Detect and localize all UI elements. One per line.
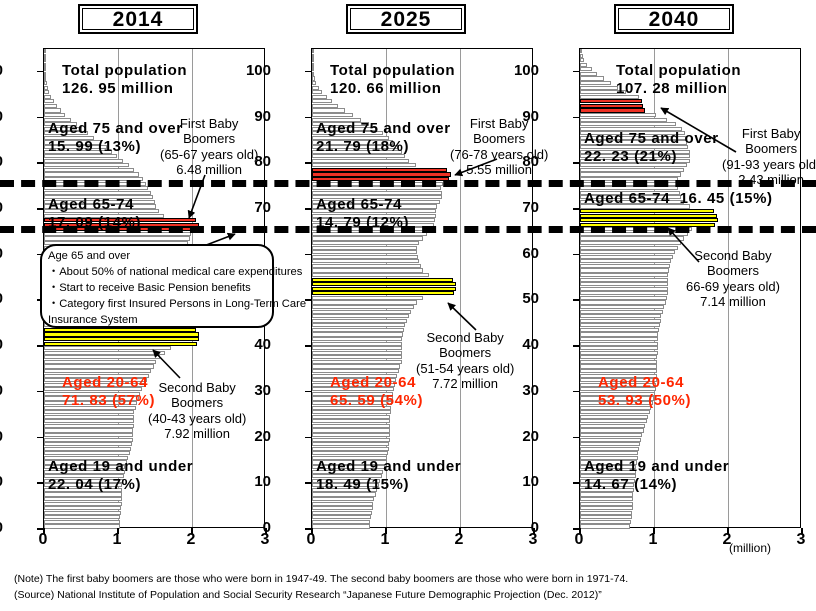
bar-age-79 — [312, 163, 416, 167]
bar-age-34 — [580, 369, 657, 373]
year-label: 2040 — [649, 9, 700, 30]
callout-line-1: ・Start to receive Basic Pension benefits — [48, 281, 266, 297]
fbb-title: First BabyBoomers — [742, 126, 801, 156]
y-tick-80 — [573, 162, 579, 164]
y-tick-label-40: 40 — [237, 337, 271, 352]
bar-age-40 — [312, 342, 402, 346]
bar-age-16 — [312, 451, 388, 455]
y-tick-label-100: 100 — [505, 63, 539, 78]
bar-age-60 — [580, 250, 675, 254]
y-tick-30 — [305, 391, 311, 393]
group-aged-19-under: Aged 19 and under14. 67 (14%) — [584, 458, 729, 493]
bar-age-3 — [44, 511, 121, 515]
bar-age-57 — [312, 264, 421, 268]
sbb-ages: (51-54 years old) — [416, 361, 514, 376]
bar-age-1 — [44, 520, 120, 524]
bar-age-51 — [312, 291, 454, 295]
y-tick-30 — [37, 391, 43, 393]
x-tick-label-0: 0 — [33, 532, 53, 548]
y-tick-90 — [573, 117, 579, 119]
y-tick-label-60: 60 — [0, 246, 3, 261]
y-tick-40 — [37, 345, 43, 347]
bar-age-55 — [312, 273, 429, 277]
bar-age-61 — [580, 246, 678, 250]
bar-age-59 — [580, 255, 673, 259]
bar-age-101 — [580, 63, 587, 67]
bar-age-38 — [312, 351, 402, 355]
bar-age-24 — [580, 415, 648, 419]
y-tick-70 — [305, 208, 311, 210]
footnotes: (Note) The first baby boomers are those … — [14, 572, 628, 604]
sbb-amount: 7.72 million — [432, 376, 498, 391]
bar-age-48 — [580, 305, 664, 309]
sbb-title: Second BabyBoomers — [426, 330, 503, 360]
group-aged-20-64: Aged 20-6471. 83 (57%) — [62, 374, 155, 409]
bar-age-77 — [312, 172, 451, 176]
bar-age-100 — [44, 67, 46, 71]
y-tick-label-100: 100 — [0, 63, 3, 78]
bar-age-23 — [44, 419, 134, 423]
callout-line-2: ・Category first Insured Persons in Long-… — [48, 297, 266, 313]
x-tick-label-1: 1 — [375, 532, 395, 548]
bar-age-90 — [580, 113, 656, 117]
group-label: Aged 65-74 16. 45 (15%) — [584, 190, 773, 207]
bar-age-58 — [580, 259, 671, 263]
bar-age-21 — [312, 428, 390, 432]
total-population-value: 126. 95 million — [62, 80, 174, 97]
bar-age-4 — [44, 506, 121, 510]
bar-age-100 — [580, 67, 592, 71]
bar-age-99 — [44, 72, 46, 76]
fbb-ages: (91-93 years old) — [722, 157, 816, 172]
bar-age-18 — [312, 442, 389, 446]
bar-age-78 — [312, 168, 447, 172]
bar-age-37 — [312, 355, 402, 359]
bar-age-16 — [44, 451, 130, 455]
bar-age-57 — [580, 264, 670, 268]
group-value: 22. 04 (17%) — [48, 476, 141, 493]
bar-age-43 — [580, 328, 659, 332]
group-aged-19-under: Aged 19 and under18. 49 (15%) — [316, 458, 461, 493]
bar-age-51 — [580, 291, 668, 295]
bar-age-5 — [44, 502, 122, 506]
reference-line-age-65 — [0, 226, 816, 233]
bar-age-18 — [44, 442, 132, 446]
second-baby-boomers-annotation: Second BabyBoomers66-69 years old)7.14 m… — [686, 248, 780, 309]
bar-age-34 — [44, 369, 151, 373]
bar-age-22 — [44, 424, 134, 428]
bar-age-2 — [44, 515, 120, 519]
x-tick-label-2: 2 — [449, 532, 469, 548]
bar-age-94 — [44, 95, 51, 99]
group-value: 71. 83 (57%) — [62, 392, 155, 409]
bar-age-60 — [312, 250, 417, 254]
total-population-value: 107. 28 million — [616, 80, 728, 97]
bar-age-44 — [580, 323, 660, 327]
bar-age-63 — [580, 236, 684, 240]
bar-age-49 — [580, 300, 666, 304]
bar-age-3 — [312, 511, 372, 515]
y-tick-label-50: 50 — [505, 291, 539, 306]
group-value: 21. 79 (18%) — [316, 138, 409, 155]
bar-age-1 — [580, 520, 631, 524]
year-title-box: 2040 — [614, 4, 734, 34]
group-value: 15. 99 (13%) — [48, 138, 141, 155]
panel-2014: 201410090807060504030201000123Total popu… — [0, 0, 272, 560]
bar-age-94 — [312, 95, 327, 99]
bar-age-96 — [312, 86, 319, 90]
bar-age-25 — [312, 410, 391, 414]
bar-age-91 — [580, 108, 645, 112]
bar-age-42 — [44, 332, 199, 336]
bar-age-96 — [44, 86, 48, 90]
bar-age-68 — [580, 214, 717, 218]
bar-age-18 — [580, 442, 640, 446]
y-tick-label-60: 60 — [505, 246, 539, 261]
y-tick-label-40: 40 — [0, 337, 3, 352]
bar-age-48 — [312, 305, 414, 309]
bar-age-77 — [580, 172, 681, 176]
bar-age-17 — [580, 447, 639, 451]
bar-age-52 — [580, 287, 668, 291]
bar-age-1 — [312, 520, 370, 524]
bar-age-20 — [44, 433, 133, 437]
bar-age-37 — [580, 355, 657, 359]
group-aged-75-over: Aged 75 and over21. 79 (18%) — [316, 120, 451, 155]
callout-line-0: ・About 50% of national medical care expe… — [48, 265, 266, 281]
sbb-amount: 7.92 million — [164, 426, 230, 441]
bar-age-80 — [44, 159, 123, 163]
bar-age-99 — [580, 72, 597, 76]
y-tick-label-0: 0 — [0, 520, 3, 535]
bar-age-91 — [44, 108, 61, 112]
bar-age-16 — [580, 451, 638, 455]
bar-age-63 — [44, 236, 190, 240]
fbb-amount: 5.55 million — [466, 162, 532, 177]
bar-age-101 — [312, 63, 314, 67]
y-tick-label-80: 80 — [0, 154, 3, 169]
bar-age-49 — [312, 300, 417, 304]
bar-age-4 — [312, 506, 373, 510]
y-tick-90 — [37, 117, 43, 119]
reference-line-age-75 — [0, 180, 816, 187]
bar-age-24 — [312, 415, 390, 419]
bar-age-102 — [44, 58, 46, 62]
bar-age-103 — [580, 54, 583, 58]
bar-age-43 — [312, 328, 404, 332]
bar-age-93 — [312, 99, 332, 103]
bar-age-73 — [44, 191, 151, 195]
total-population-value: 120. 66 million — [330, 80, 442, 97]
bar-age-35 — [312, 364, 400, 368]
bar-age-41 — [44, 337, 199, 341]
y-tick-100 — [37, 71, 43, 73]
y-tick-60 — [573, 254, 579, 256]
age-65-callout-box: Age 65 and over・About 50% of national me… — [40, 244, 274, 328]
y-tick-label-70: 70 — [505, 200, 539, 215]
bar-age-47 — [580, 310, 663, 314]
y-tick-80 — [37, 162, 43, 164]
group-aged-75-over: Aged 75 and over22. 23 (21%) — [584, 130, 719, 165]
bar-age-98 — [312, 76, 315, 80]
y-tick-label-10: 10 — [0, 474, 3, 489]
x-tick-label-3: 3 — [791, 532, 811, 548]
bar-age-46 — [580, 314, 661, 318]
bar-age-6 — [580, 497, 633, 501]
x-tick-label-0: 0 — [301, 532, 321, 548]
bar-age-80 — [312, 159, 409, 163]
group-label: Aged 75 and over — [584, 130, 719, 147]
y-tick-40 — [305, 345, 311, 347]
group-label: Aged 19 and under — [48, 458, 193, 475]
y-tick-20 — [305, 437, 311, 439]
bar-age-36 — [44, 360, 156, 364]
bar-age-56 — [312, 268, 423, 272]
group-label: Aged 19 and under — [316, 458, 461, 475]
bar-age-25 — [44, 410, 134, 414]
group-label: Aged 20-64 — [330, 374, 416, 391]
group-label: Aged 65-74 — [48, 196, 134, 213]
bar-age-37 — [44, 355, 160, 359]
bar-age-104 — [312, 49, 314, 53]
year-label: 2025 — [381, 9, 432, 30]
group-value: 65. 59 (54%) — [330, 392, 423, 409]
first-baby-boomers-annotation: First BabyBoomers(76-78 years old)5.55 m… — [450, 116, 548, 177]
group-label: Aged 75 and over — [316, 120, 451, 137]
bar-age-78 — [44, 168, 134, 172]
x-tick-label-2: 2 — [181, 532, 201, 548]
first-baby-boomers-annotation: First BabyBoomers(65-67 years old)6.48 m… — [160, 116, 258, 177]
bar-age-54 — [312, 278, 453, 282]
bar-age-92 — [580, 104, 643, 108]
group-aged-20-64: Aged 20-6453. 93 (50%) — [598, 374, 691, 409]
sbb-ages: 66-69 years old) — [686, 279, 780, 294]
bar-age-40 — [44, 342, 197, 346]
bar-age-2 — [312, 515, 371, 519]
bar-age-0 — [312, 524, 370, 528]
y-tick-label-0: 0 — [505, 520, 539, 535]
bar-age-39 — [580, 346, 658, 350]
bar-age-55 — [580, 273, 668, 277]
y-tick-20 — [37, 437, 43, 439]
bar-age-92 — [44, 104, 57, 108]
total-population-label: Total population — [62, 62, 187, 79]
total-population-label: Total population — [616, 62, 741, 79]
bar-age-0 — [580, 524, 630, 528]
year-title-inner: 2040 — [618, 8, 730, 30]
bar-age-93 — [580, 99, 642, 103]
footnote-source: (Source) National Institute of Populatio… — [14, 588, 628, 604]
y-tick-label-0: 0 — [237, 520, 271, 535]
footnote-note: (Note) The first baby boomers are those … — [14, 572, 628, 588]
bar-age-52 — [312, 287, 456, 291]
bar-age-20 — [312, 433, 390, 437]
bar-age-69 — [580, 209, 714, 213]
bar-age-100 — [312, 67, 314, 71]
bar-age-63 — [312, 236, 423, 240]
y-tick-10 — [573, 482, 579, 484]
bar-age-88 — [580, 122, 676, 126]
bar-age-62 — [312, 241, 419, 245]
bar-age-20 — [580, 433, 642, 437]
bar-age-89 — [580, 118, 667, 122]
bar-age-54 — [580, 278, 668, 282]
group-label: Aged 20-64 — [598, 374, 684, 391]
bar-age-56 — [580, 268, 669, 272]
bar-age-96 — [580, 86, 618, 90]
bar-age-17 — [44, 447, 131, 451]
bar-age-21 — [580, 428, 644, 432]
y-tick-10 — [37, 482, 43, 484]
bar-age-92 — [312, 104, 338, 108]
y-tick-40 — [573, 345, 579, 347]
bar-age-58 — [312, 259, 419, 263]
y-tick-label-50: 50 — [0, 291, 3, 306]
sbb-ages: (40-43 years old) — [148, 411, 246, 426]
group-value: 18. 49 (15%) — [316, 476, 409, 493]
bar-age-103 — [44, 54, 46, 58]
bar-age-45 — [312, 319, 407, 323]
year-title-inner: 2014 — [82, 8, 194, 30]
group-value: 14. 67 (14%) — [584, 476, 677, 493]
bar-age-50 — [312, 296, 423, 300]
bar-age-90 — [312, 113, 353, 117]
year-title-box: 2025 — [346, 4, 466, 34]
total-population-text: Total population107. 28 million — [616, 62, 741, 97]
bar-age-44 — [312, 323, 405, 327]
bar-age-38 — [580, 351, 658, 355]
fbb-ages: (76-78 years old) — [450, 147, 548, 162]
y-tick-label-10: 10 — [237, 474, 271, 489]
bar-age-77 — [44, 172, 139, 176]
bar-age-53 — [312, 282, 456, 286]
y-tick-50 — [573, 299, 579, 301]
y-tick-label-10: 10 — [505, 474, 539, 489]
sbb-title: Second BabyBoomers — [158, 380, 235, 410]
bar-age-73 — [312, 191, 442, 195]
bar-age-5 — [312, 502, 373, 506]
bar-age-5 — [580, 502, 633, 506]
bar-age-19 — [580, 438, 641, 442]
group-value: 22. 23 (21%) — [584, 148, 677, 165]
bar-age-50 — [580, 296, 667, 300]
bar-age-95 — [312, 90, 322, 94]
bar-age-91 — [312, 108, 345, 112]
fbb-title: First BabyBoomers — [180, 116, 239, 146]
bar-age-22 — [580, 424, 645, 428]
bar-age-101 — [44, 63, 46, 67]
x-axis-unit-label: (million) — [729, 541, 771, 555]
bar-age-34 — [312, 369, 399, 373]
year-title-box: 2014 — [78, 4, 198, 34]
total-population-text: Total population120. 66 million — [330, 62, 455, 97]
bar-age-39 — [44, 346, 171, 350]
sbb-amount: 7.14 million — [700, 294, 766, 309]
bar-age-99 — [312, 72, 314, 76]
bar-age-36 — [580, 360, 657, 364]
bar-age-95 — [44, 90, 49, 94]
bar-age-23 — [580, 419, 647, 423]
bar-age-93 — [44, 99, 54, 103]
group-label: Aged 65-74 — [316, 196, 402, 213]
year-title-inner: 2025 — [350, 8, 462, 30]
fbb-ages: (65-67 years old) — [160, 147, 258, 162]
bar-age-19 — [44, 438, 133, 442]
total-population-label: Total population — [330, 62, 455, 79]
bar-age-62 — [580, 241, 681, 245]
second-baby-boomers-annotation: Second BabyBoomers(51-54 years old)7.72 … — [416, 330, 514, 391]
group-label: Aged 19 and under — [584, 458, 729, 475]
year-label: 2014 — [113, 9, 164, 30]
group-aged-20-64: Aged 20-6465. 59 (54%) — [330, 374, 423, 409]
second-baby-boomers-annotation: Second BabyBoomers(40-43 years old)7.92 … — [148, 380, 246, 441]
bar-age-6 — [44, 497, 122, 501]
bar-age-59 — [312, 255, 418, 259]
sbb-title: Second BabyBoomers — [694, 248, 771, 278]
y-tick-label-20: 20 — [0, 429, 3, 444]
y-tick-label-70: 70 — [237, 200, 271, 215]
bar-age-53 — [580, 282, 668, 286]
bar-age-38 — [44, 351, 165, 355]
bar-age-19 — [312, 438, 390, 442]
y-tick-80 — [305, 162, 311, 164]
bar-age-41 — [312, 337, 402, 341]
bar-age-21 — [44, 428, 133, 432]
bar-age-3 — [580, 511, 632, 515]
bar-age-41 — [580, 337, 658, 341]
panel-2040: 204010090807060504030201000123Total popu… — [536, 0, 808, 560]
bar-age-97 — [44, 81, 47, 85]
panel-2025: 202510090807060504030201000123Total popu… — [268, 0, 540, 560]
bar-age-6 — [312, 497, 374, 501]
y-tick-label-90: 90 — [0, 109, 3, 124]
bar-age-97 — [312, 81, 316, 85]
x-tick-label-1: 1 — [107, 532, 127, 548]
bar-age-24 — [44, 415, 134, 419]
bar-age-90 — [44, 113, 65, 117]
y-tick-label-20: 20 — [505, 429, 539, 444]
bar-age-104 — [44, 49, 46, 53]
bar-age-102 — [312, 58, 314, 62]
group-aged-65-74: Aged 65-74 16. 45 (15%) — [584, 190, 773, 208]
x-tick-label-0: 0 — [569, 532, 589, 548]
first-baby-boomers-annotation: First BabyBoomers(91-93 years old)2.43 m… — [722, 126, 816, 187]
group-value: 53. 93 (50%) — [598, 392, 691, 409]
fbb-title: First BabyBoomers — [470, 116, 529, 146]
bar-age-35 — [580, 364, 657, 368]
bar-age-98 — [44, 76, 46, 80]
bar-age-79 — [44, 163, 129, 167]
y-tick-100 — [573, 71, 579, 73]
y-tick-30 — [573, 391, 579, 393]
x-tick-label-1: 1 — [643, 532, 663, 548]
bar-age-45 — [580, 319, 661, 323]
bar-age-2 — [580, 515, 632, 519]
y-tick-label-100: 100 — [237, 63, 271, 78]
group-aged-19-under: Aged 19 and under22. 04 (17%) — [48, 458, 193, 493]
callout-title: Age 65 and over — [48, 249, 266, 265]
bar-age-97 — [580, 81, 611, 85]
bar-age-42 — [580, 332, 658, 336]
y-tick-10 — [305, 482, 311, 484]
bar-age-78 — [580, 168, 684, 172]
y-tick-60 — [305, 254, 311, 256]
bar-age-47 — [312, 310, 411, 314]
total-population-text: Total population126. 95 million — [62, 62, 187, 97]
bar-age-102 — [580, 58, 584, 62]
fbb-amount: 6.48 million — [176, 162, 242, 177]
y-tick-label-70: 70 — [0, 200, 3, 215]
